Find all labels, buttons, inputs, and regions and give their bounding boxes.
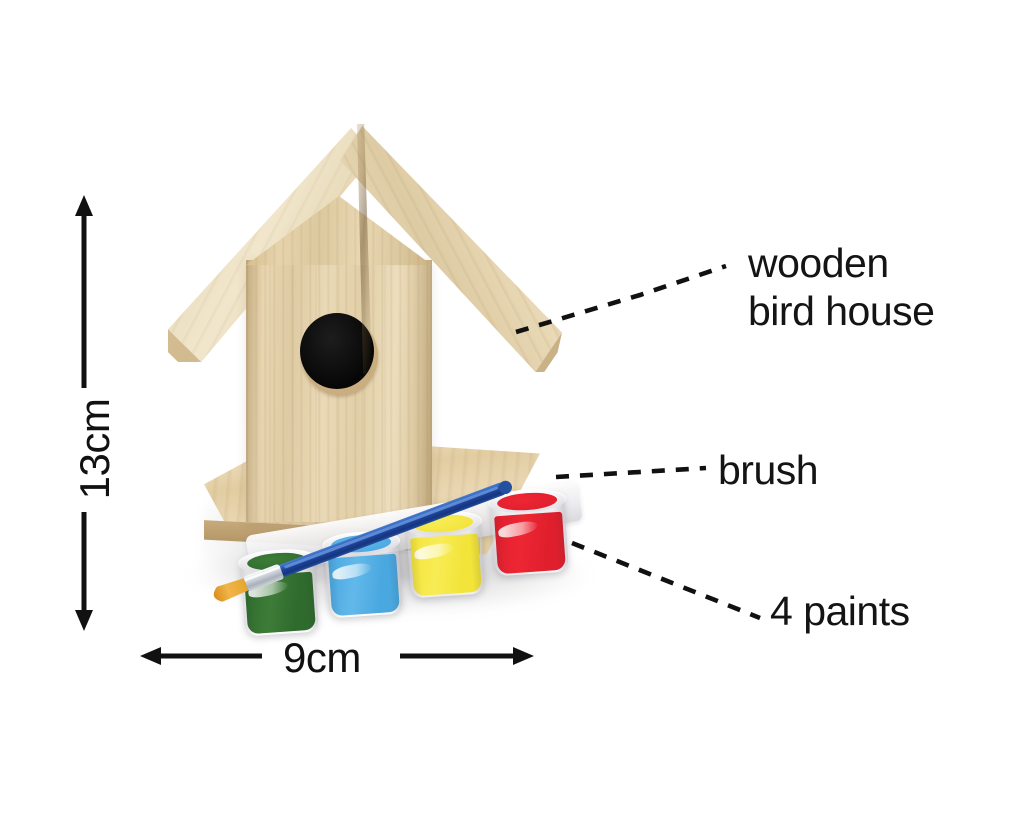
brush-handle-highlight: [284, 486, 499, 569]
callout-label-brush: brush: [718, 447, 818, 495]
paint-brush: [150, 110, 630, 640]
product-photo: [150, 110, 630, 640]
dimension-label-width: 9cm: [283, 634, 361, 682]
callout-label-4-paints: 4 paints: [770, 588, 910, 636]
dimension-label-height: 13cm: [40, 426, 150, 472]
brush-bristles: [211, 577, 248, 604]
infographic-canvas: wooden bird house brush 4 paints 13cm 9c…: [0, 0, 1024, 820]
callout-label-wooden-bird-house: wooden bird house: [748, 240, 934, 335]
